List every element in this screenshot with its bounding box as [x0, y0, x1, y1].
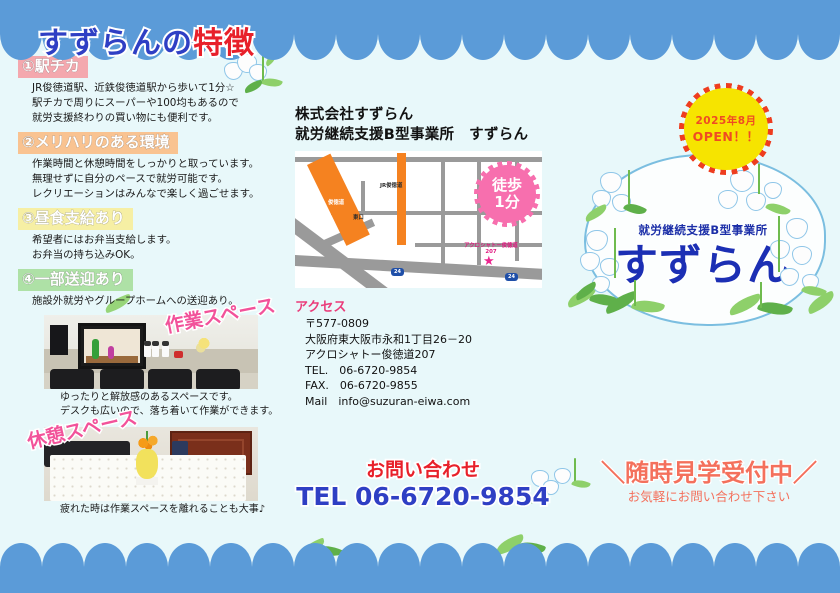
walk-badge-line2: 1分: [494, 194, 519, 211]
access-block: アクセス 〒577-0809 大阪府東大阪市永和1丁目26－20 アクロシャトー…: [295, 299, 550, 410]
feature-item-2: ②メリハリのある環境 作業時間と休憩時間をしっかりと取っています。 無理せずに自…: [18, 132, 286, 206]
feature-3-body: 希望者にはお弁当支給します。 お弁当の持ち込みOK。: [18, 230, 286, 267]
inquiry-block: お問い合わせ TEL 06-6720-9854: [288, 458, 558, 512]
access-heading: アクセス: [295, 299, 550, 316]
features-column: ①駅チカ JR俊徳道駅、近鉄俊徳道駅から歩いて1分☆ 駅チカで周りにスーパーや1…: [18, 56, 286, 517]
photo-2-caption: 疲れた時は作業スペースを離れることも大事♪: [44, 501, 286, 517]
map-label-rail-diagonal: 俊徳道: [328, 198, 344, 206]
page-title: すずらんの特徴: [38, 18, 255, 62]
feature-2-heading: ②メリハリのある環境: [18, 132, 178, 154]
page-title-blue: すずらんの: [38, 26, 193, 61]
walk-badge-disc: 徒歩 1分: [478, 165, 536, 223]
inquiry-telephone[interactable]: TEL 06-6720-9854: [288, 482, 558, 512]
feature-3-heading: ③昼食支給あり: [18, 208, 133, 230]
open-badge: 2025年8月 OPEN！！: [684, 88, 768, 170]
open-badge-line1: 2025年8月: [695, 114, 756, 129]
visit-banner: ＼随時見学受付中／ お気軽にお問い合わせ下さい: [578, 458, 840, 506]
bottom-scallop-bumps: [0, 543, 840, 567]
map-label-building: アクロシャトー俊徳道: [443, 241, 539, 249]
visit-headline: ＼随時見学受付中／: [578, 458, 840, 488]
bottom-scallop-band: [0, 567, 840, 593]
map-marker-star: ★: [483, 255, 495, 268]
page-title-red: 特徴: [193, 26, 255, 61]
feature-item-3: ③昼食支給あり 希望者にはお弁当支給します。 お弁当の持ち込みOK。: [18, 208, 286, 267]
lily-icon-logo-tl: [590, 168, 650, 226]
location-map: 俊徳道 JR俊徳道 東口 アクロシャトー俊徳道 207 ★ 24 24 徒歩 1…: [295, 151, 542, 288]
map-label-rail-vertical: JR俊徳道: [380, 181, 402, 189]
photo-block-work-space: 作業スペース: [44, 315, 286, 419]
photo-block-rest-space: 休憩スペース 疲れた時は作業スペースを離れることも大事♪: [44, 427, 286, 517]
access-details: 〒577-0809 大阪府東大阪市永和1丁目26－20 アクロシャトー俊徳道20…: [295, 316, 550, 410]
map-route-shield-2: 24: [505, 273, 518, 281]
company-map-column: 株式会社すずらん 就労継続支援B型事業所 すずらん 俊徳道 JR俊徳道 東口 ア…: [295, 105, 550, 410]
lily-icon-logo-bl: [604, 278, 682, 326]
map-label-east-exit: 東口: [353, 213, 364, 221]
lily-icon-logo-br: [726, 282, 806, 330]
inquiry-heading: お問い合わせ: [288, 458, 558, 482]
feature-item-1: ①駅チカ JR俊徳道駅、近鉄俊徳道駅から歩いて1分☆ 駅チカで周りにスーパーや1…: [18, 56, 286, 130]
feature-2-body: 作業時間と休憩時間をしっかりと取っています。 無理せずに自分のペースで就労可能で…: [18, 154, 286, 206]
walk-time-badge: 徒歩 1分: [478, 165, 536, 223]
map-route-shield-1: 24: [391, 268, 404, 276]
logo-card: 就労継続支援B型事業所 すずらん: [576, 150, 830, 326]
open-badge-face: 2025年8月 OPEN！！: [684, 88, 768, 170]
visit-subline: お気軽にお問い合わせ下さい: [578, 488, 840, 506]
flyer-canvas: すずらんの特徴 ①駅チカ JR俊徳道駅、近鉄俊徳道駅から歩いて1分☆ 駅チカで周…: [0, 0, 840, 593]
company-name: 株式会社すずらん 就労継続支援B型事業所 すずらん: [295, 105, 550, 145]
feature-4-heading: ④一部送迎あり: [18, 269, 133, 291]
walk-badge-line1: 徒歩: [492, 177, 522, 194]
open-badge-line2: OPEN！！: [693, 129, 760, 144]
feature-1-body: JR俊徳道駅、近鉄俊徳道駅から歩いて1分☆ 駅チカで周りにスーパーや100均もあ…: [18, 78, 286, 130]
